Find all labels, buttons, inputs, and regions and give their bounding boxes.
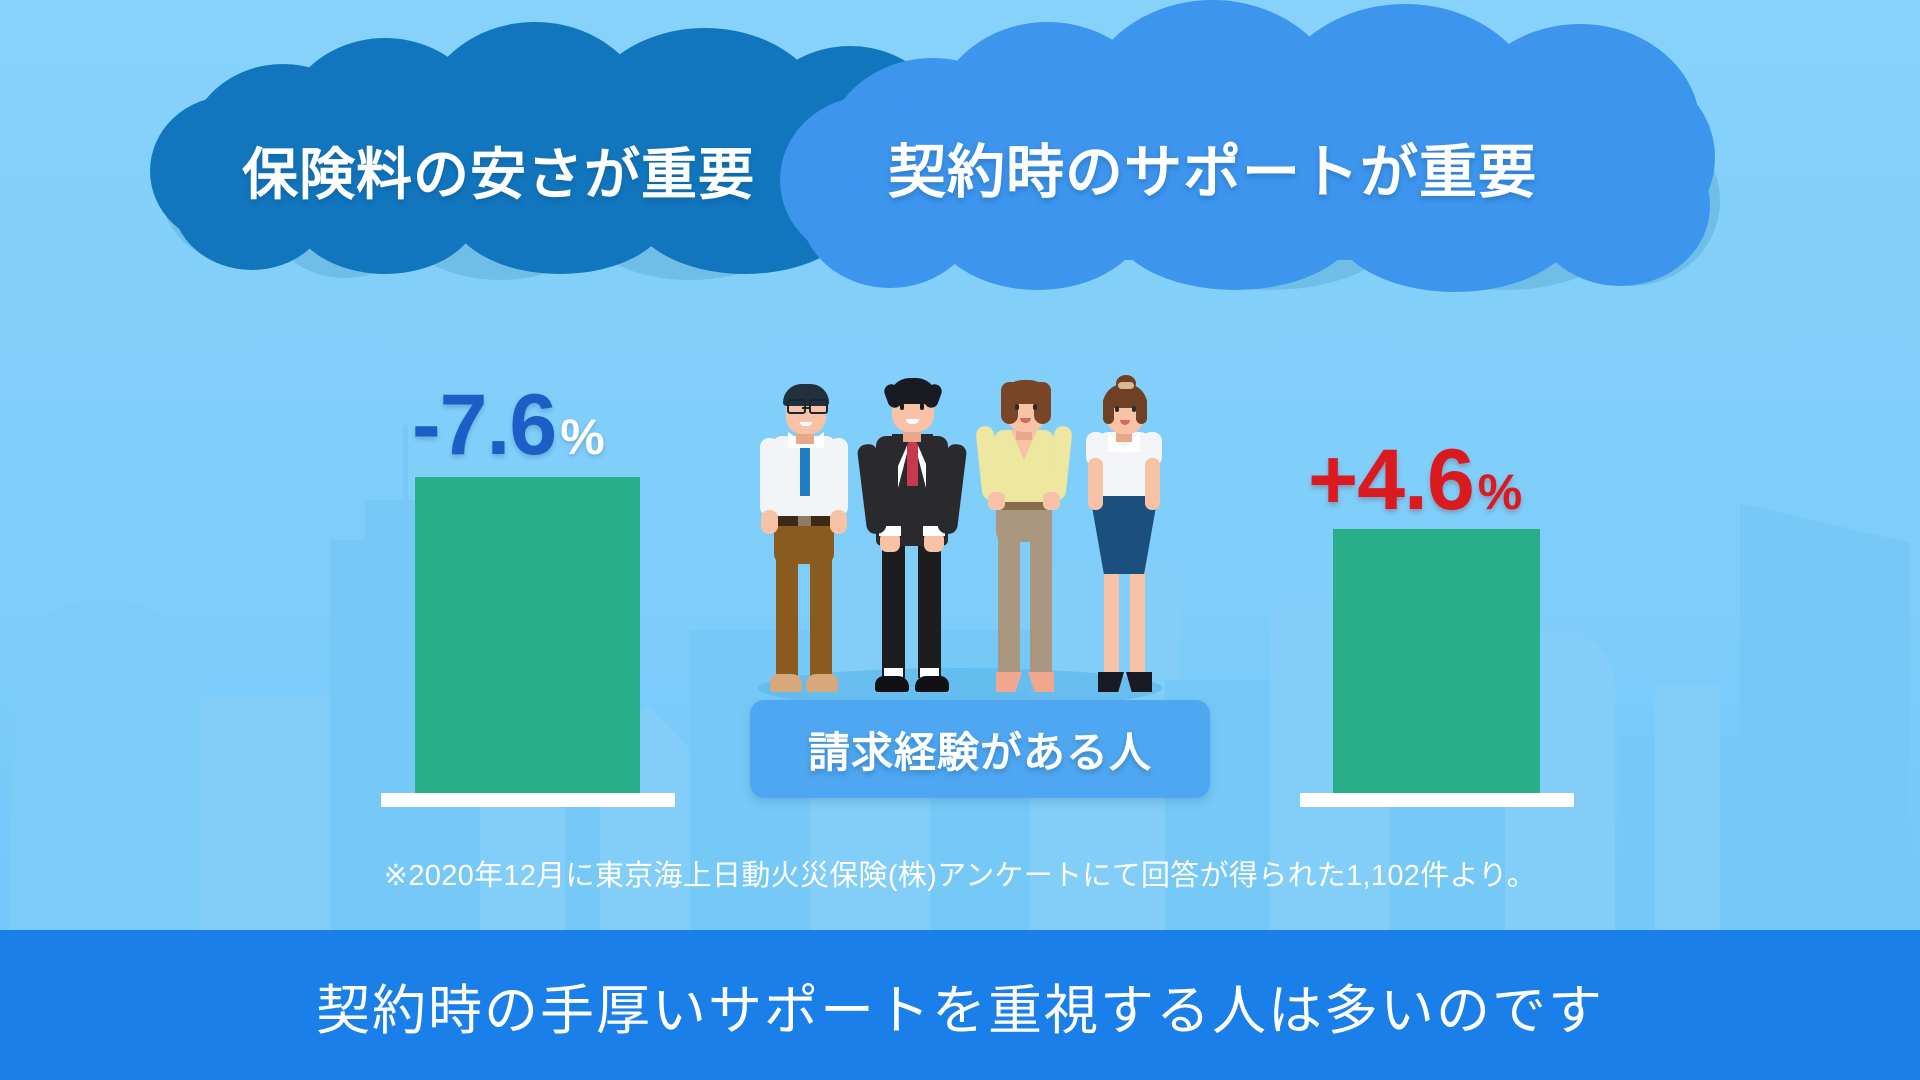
- value-left-unit: %: [560, 409, 604, 465]
- footnote-text: ※2020年12月に東京海上日動火災保険(株)アンケートにて回答が得られた1,1…: [384, 860, 1536, 892]
- center-label-text: 請求経験がある人: [808, 719, 1152, 780]
- infographic-canvas: 保険料の安さが重要 契約時のサポートが重要 -7.6% +4.6%: [0, 0, 1920, 1080]
- value-right-number: +4.6: [1308, 432, 1474, 528]
- value-label-right: +4.6%: [1308, 437, 1522, 523]
- speech-cloud-support: 契約時のサポートが重要: [780, 0, 1720, 290]
- person-woman-navy: [1080, 374, 1168, 692]
- people-illustration: [740, 370, 1180, 710]
- cloud-right-text: 契約時のサポートが重要: [888, 125, 1537, 209]
- value-left-number: -7.6: [412, 377, 556, 473]
- bottom-banner: 契約時の手厚いサポートを重視する人は多いのです: [0, 930, 1920, 1080]
- person-man-glasses: [758, 380, 850, 692]
- person-woman-yellow: [978, 376, 1070, 692]
- bottom-banner-text: 契約時の手厚いサポートを重視する人は多いのです: [316, 966, 1604, 1045]
- footnote: ※2020年12月に東京海上日動火災保険(株)アンケートにて回答が得られた1,1…: [0, 852, 1920, 894]
- baseline-right: [1300, 793, 1574, 807]
- bar-left: [415, 477, 640, 797]
- value-right-unit: %: [1478, 464, 1522, 520]
- value-label-left: -7.6%: [412, 382, 605, 468]
- center-label-claim-experience: 請求経験がある人: [750, 700, 1210, 798]
- cloud-left-text: 保険料の安さが重要: [242, 130, 755, 211]
- baseline-left: [381, 793, 675, 807]
- bar-right: [1333, 529, 1540, 795]
- person-man-suit: [862, 362, 962, 692]
